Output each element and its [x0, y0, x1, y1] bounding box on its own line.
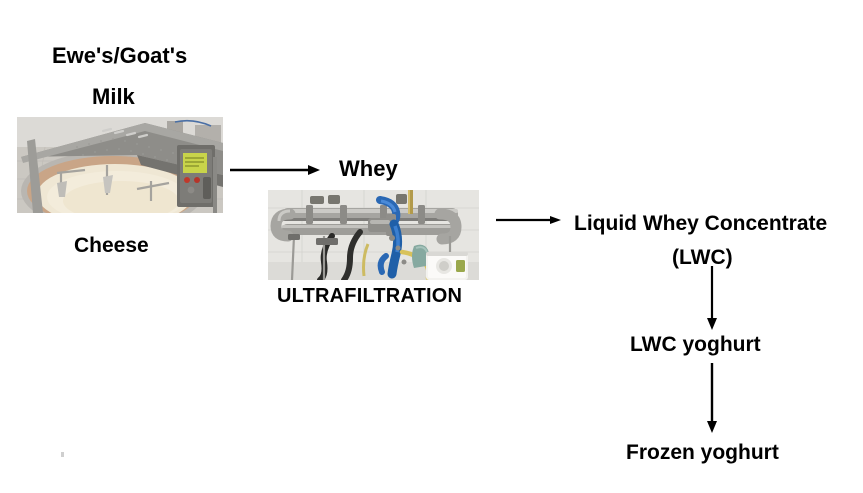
label-ewes-goats-milk-line2: Milk — [92, 85, 135, 109]
ultrafiltration-photo — [268, 190, 479, 280]
process-flow-diagram: Ewe's/Goat's Milk — [0, 0, 863, 493]
arrow-ultrafiltration-to-lwc — [496, 212, 566, 228]
label-frozen-yoghurt: Frozen yoghurt — [626, 441, 779, 464]
label-lwc-yoghurt: LWC yoghurt — [630, 333, 761, 356]
cheese-vat-photo — [17, 117, 223, 213]
arrow-milk-to-whey — [230, 162, 326, 178]
arrow-lwc-yoghurt-to-frozen-yoghurt — [704, 363, 720, 437]
arrow-lwc-to-lwc-yoghurt — [704, 266, 720, 334]
label-liquid-whey-concentrate: Liquid Whey Concentrate — [574, 212, 827, 235]
label-ewes-goats-milk-line1: Ewe's/Goat's — [52, 44, 187, 68]
label-cheese: Cheese — [74, 234, 149, 257]
label-whey: Whey — [339, 157, 398, 181]
label-lwc-abbreviation: (LWC) — [672, 246, 733, 269]
artifact-speck — [61, 452, 64, 457]
label-ultrafiltration: ULTRAFILTRATION — [277, 285, 462, 307]
